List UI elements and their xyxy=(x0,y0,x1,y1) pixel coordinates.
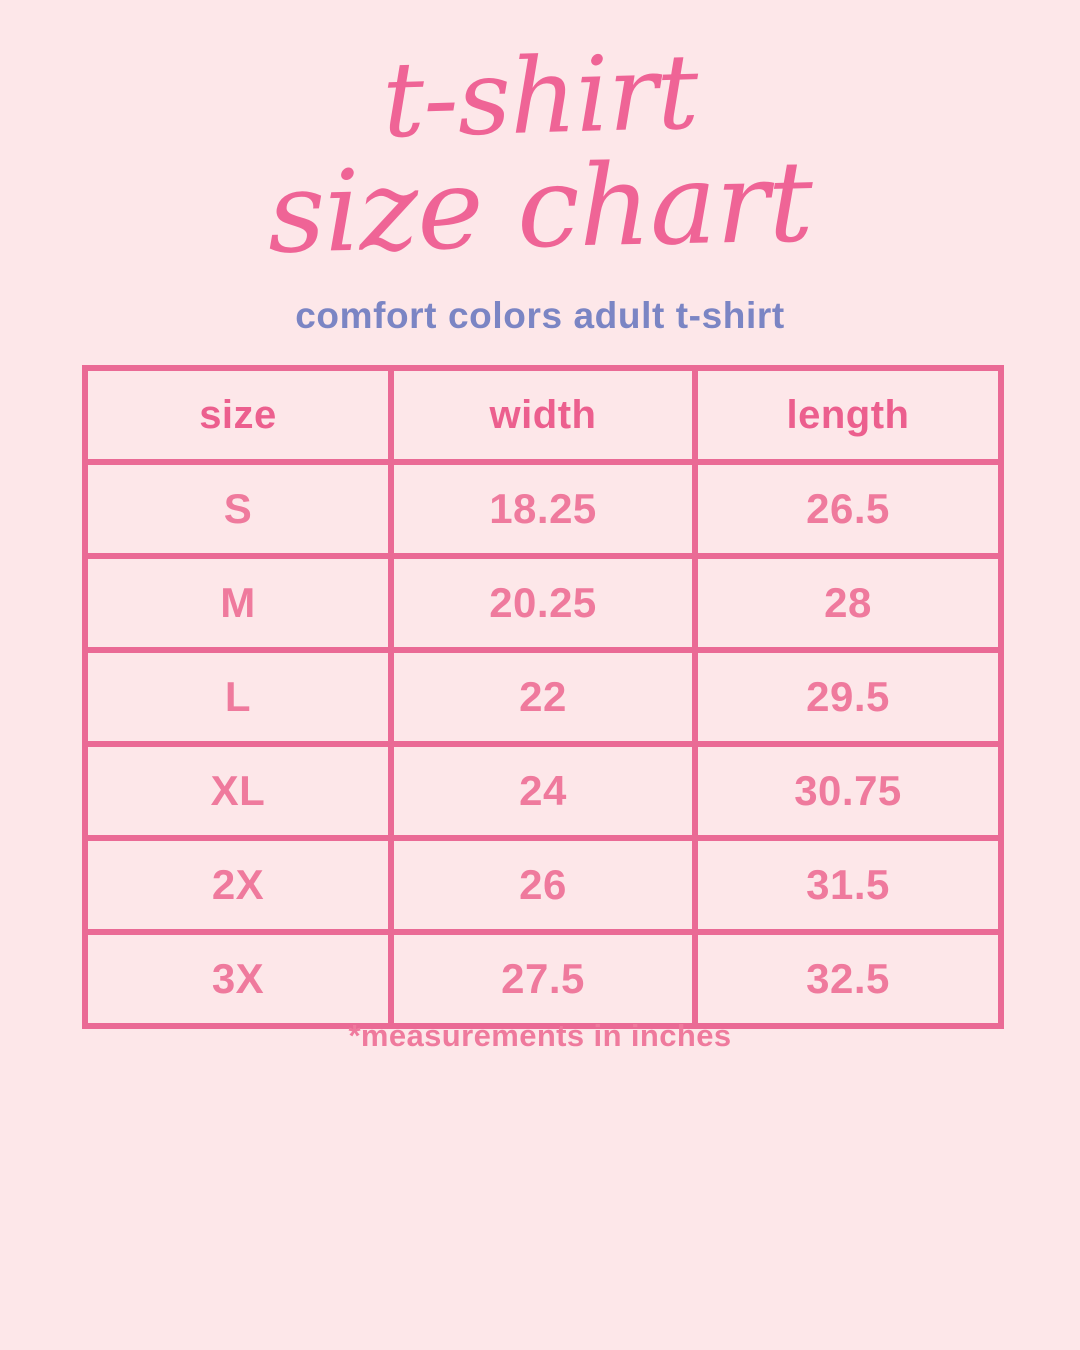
cell-width: 18.25 xyxy=(391,462,695,556)
column-header-width: width xyxy=(391,368,695,462)
table-header-row: size width length xyxy=(85,368,1001,462)
cell-size: S xyxy=(85,462,391,556)
cell-length: 30.75 xyxy=(695,744,1001,838)
cell-size: 3X xyxy=(85,932,391,1026)
column-header-length: length xyxy=(695,368,1001,462)
table-row: 2X 26 31.5 xyxy=(85,838,1001,932)
cell-width: 24 xyxy=(391,744,695,838)
column-header-size: size xyxy=(85,368,391,462)
cell-width: 20.25 xyxy=(391,556,695,650)
cell-length: 31.5 xyxy=(695,838,1001,932)
table-row: S 18.25 26.5 xyxy=(85,462,1001,556)
size-chart-table: size width length S 18.25 26.5 M 20.25 2… xyxy=(82,365,1004,1029)
cell-size: M xyxy=(85,556,391,650)
cell-width: 27.5 xyxy=(391,932,695,1026)
cell-length: 28 xyxy=(695,556,1001,650)
table-row: L 22 29.5 xyxy=(85,650,1001,744)
table-row: XL 24 30.75 xyxy=(85,744,1001,838)
cell-size: XL xyxy=(85,744,391,838)
cell-length: 26.5 xyxy=(695,462,1001,556)
cell-length: 32.5 xyxy=(695,932,1001,1026)
page-subtitle: comfort colors adult t-shirt xyxy=(0,295,1080,337)
cell-width: 26 xyxy=(391,838,695,932)
cell-width: 22 xyxy=(391,650,695,744)
title-line-two: size chart xyxy=(0,141,1080,276)
cell-length: 29.5 xyxy=(695,650,1001,744)
measurements-footnote: *measurements in inches xyxy=(0,1018,1080,1054)
cell-size: L xyxy=(85,650,391,744)
table-row: M 20.25 28 xyxy=(85,556,1001,650)
cell-size: 2X xyxy=(85,838,391,932)
page-title: t-shirt size chart xyxy=(0,44,1080,264)
table-row: 3X 27.5 32.5 xyxy=(85,932,1001,1026)
size-chart-page: t-shirt size chart comfort colors adult … xyxy=(0,0,1080,1350)
